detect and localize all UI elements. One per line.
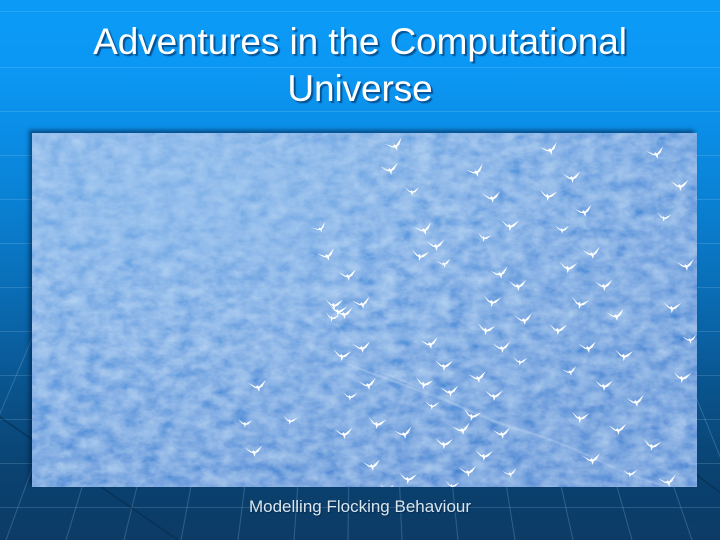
slide-subtitle: Modelling Flocking Behaviour	[34, 496, 686, 518]
slide-title: Adventures in the Computational Universe	[34, 18, 686, 112]
slide-image-flocking-birds	[32, 133, 697, 487]
presentation-slide: Adventures in the Computational Universe	[0, 0, 720, 540]
